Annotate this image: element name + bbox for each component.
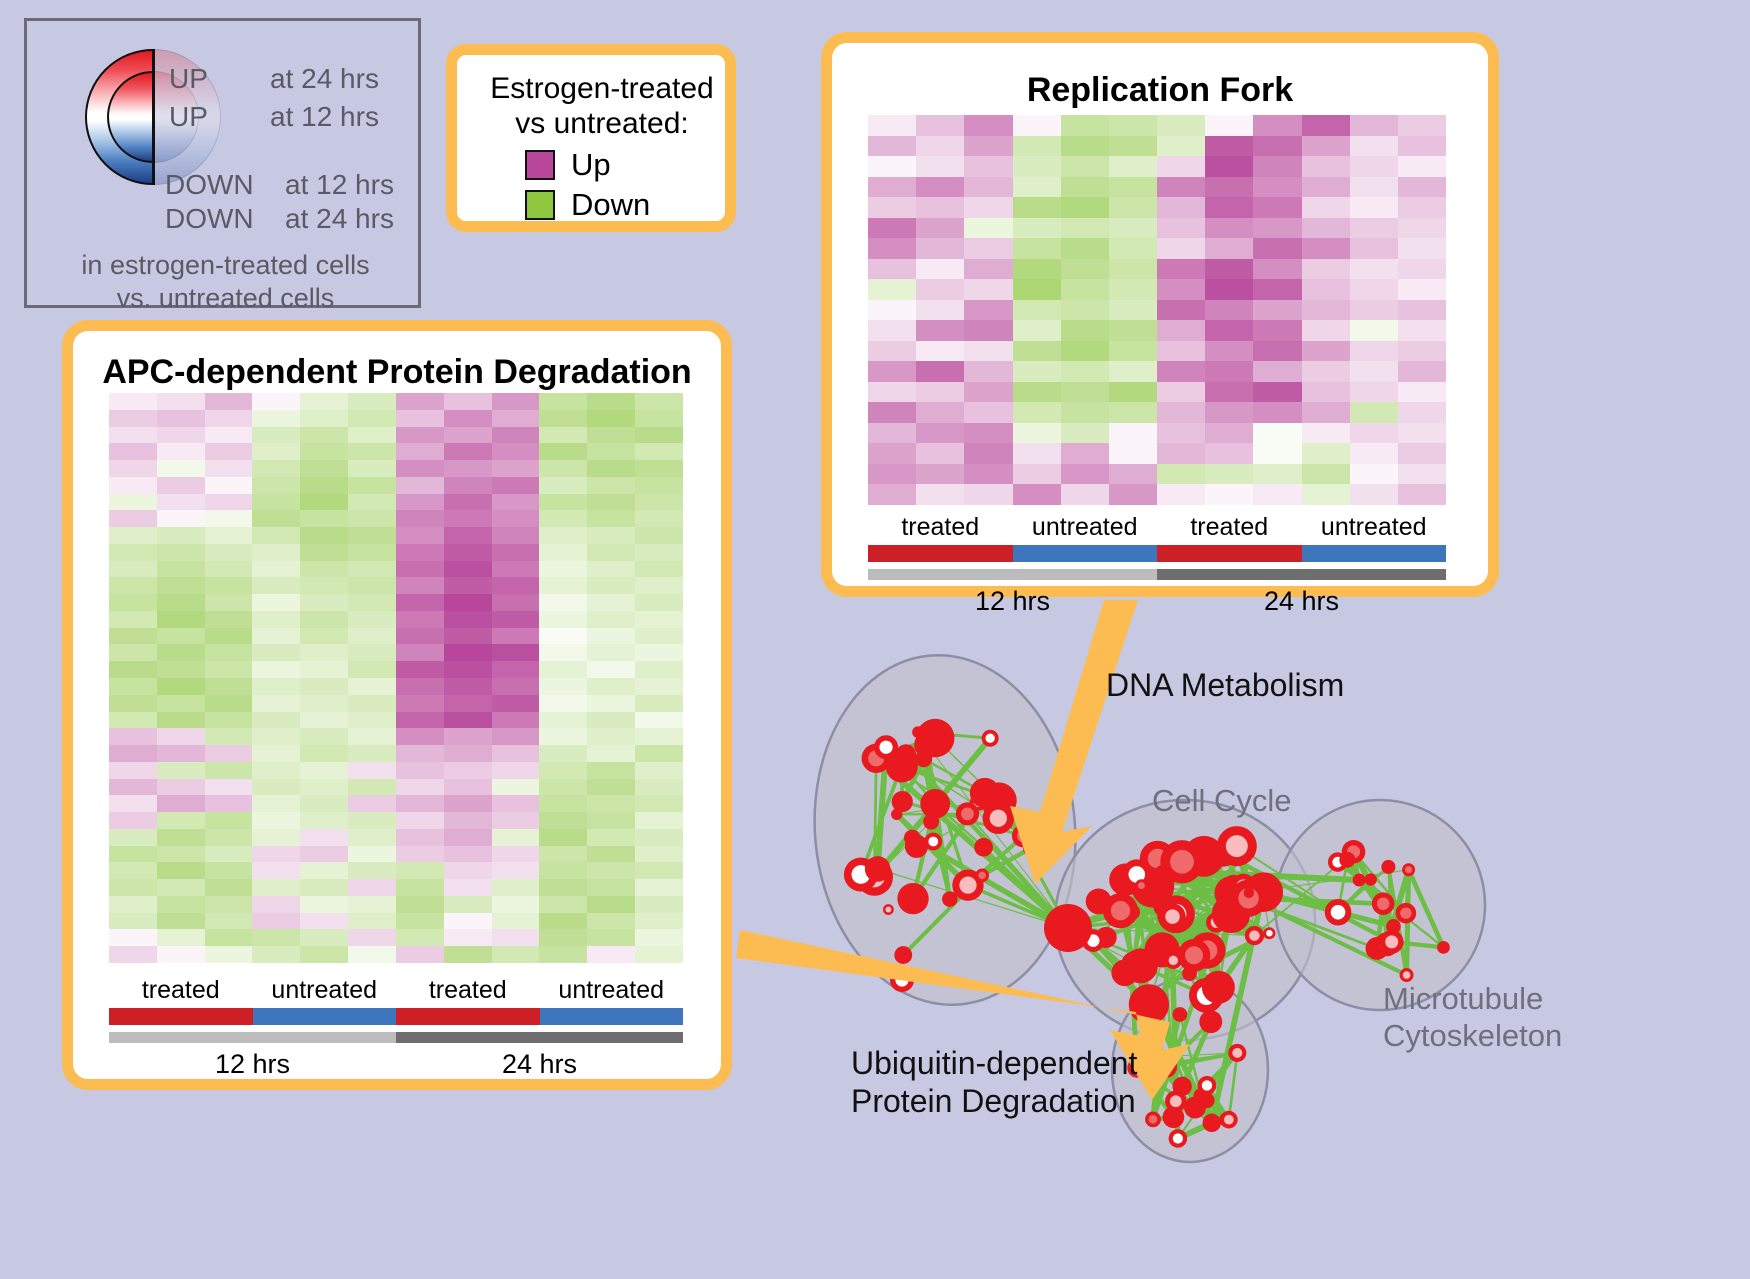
heatmap-cell [1253,136,1301,157]
heatmap-cell [1302,320,1350,341]
heatmap-cell [109,695,157,712]
cluster-label-ubiquitin-line1: Ubiquitin-dependent [851,1044,1137,1082]
network-node[interactable] [1263,927,1275,939]
replication-fork-heatmap [868,115,1446,505]
heatmap-cell [205,393,253,410]
heatmap-cell [157,611,205,628]
heatmap-cell [1205,443,1253,464]
network-node[interactable] [1402,863,1415,876]
heatmap-cell [1350,218,1398,239]
heatmap-cell [587,527,635,544]
heatmap-cell [1253,320,1301,341]
heatmap-cell [396,812,444,829]
heatmap-cell [252,829,300,846]
heatmap-cell [587,913,635,930]
network-node[interactable] [1173,1007,1188,1022]
network-node[interactable] [1353,873,1366,886]
heatmap-cell [964,402,1012,423]
node-inner-disc-12hrs [1232,1048,1242,1058]
heatmap-cell [492,594,540,611]
heatmap-cell [492,628,540,645]
heatmap-cell [964,177,1012,198]
heatmap-cell [1302,484,1350,505]
heatmap-cell [300,494,348,511]
node-inner-disc-12hrs [1400,907,1411,918]
heatmap-cell [444,427,492,444]
heatmap-cell [587,594,635,611]
network-node[interactable] [1119,961,1141,983]
network-node[interactable] [897,883,928,914]
heatmap-cell [1061,300,1109,321]
heatmap-cell [396,477,444,494]
heatmap-cell [635,477,683,494]
network-node[interactable] [1023,842,1036,855]
network-node[interactable] [905,835,928,858]
network-node[interactable] [1203,1114,1221,1132]
heatmap-cell [1398,156,1446,177]
heatmap-cell [157,695,205,712]
heatmap-cell [492,510,540,527]
heatmap-cell [635,728,683,745]
heatmap-cell [252,628,300,645]
heatmap-cell [205,745,253,762]
heatmap-cell [109,745,157,762]
node-outer-ring-24hrs [896,744,916,764]
heatmap-cell [1109,218,1157,239]
heatmap-cell [300,846,348,863]
heatmap-cell [444,460,492,477]
heatmap-cell [1061,218,1109,239]
node-outer-ring-24hrs [897,883,928,914]
network-node[interactable] [912,726,924,738]
heatmap-cell [492,879,540,896]
node-inner-disc-12hrs [1403,971,1411,979]
heatmap-cell [1013,423,1061,444]
network-node[interactable] [1129,984,1169,1024]
network-node[interactable] [1135,879,1148,892]
heatmap-cell [916,218,964,239]
sample-group-label: treated [396,976,540,1005]
heatmap-cell [444,862,492,879]
network-node[interactable] [1044,904,1092,952]
node-inner-disc-12hrs [1111,901,1130,920]
heatmap-cell [1350,136,1398,157]
heatmap-cell [300,544,348,561]
network-node[interactable] [916,719,954,757]
heatmap-cell [1157,259,1205,280]
heatmap-cell [1109,341,1157,362]
heatmap-cell [1350,484,1398,505]
heatmap-cell [300,879,348,896]
treatment-color-bar [109,1008,683,1025]
heatmap-cell [205,795,253,812]
heatmap-cell [300,527,348,544]
network-node[interactable] [1437,941,1450,954]
network-node[interactable] [974,838,993,857]
heatmap-cell [252,510,300,527]
network-node[interactable] [1202,971,1235,1004]
estrogen-legend-title-line1: Estrogen-treated [457,71,747,106]
heatmap-cell [1061,279,1109,300]
heatmap-cell [205,879,253,896]
heatmap-cell [205,644,253,661]
network-node[interactable] [894,946,912,964]
heatmap-cell [444,527,492,544]
heatmap-cell [300,661,348,678]
heatmap-cell [348,846,396,863]
network-node[interactable] [883,904,894,915]
heatmap-cell [1061,443,1109,464]
heatmap-cell [1205,382,1253,403]
legend-time-up-24: at 24 hrs [270,63,379,95]
heatmap-cell [1061,361,1109,382]
timepoint-bar-segment [1157,569,1446,580]
heatmap-cell [1109,136,1157,157]
cluster-label-ubiquitin: Ubiquitin-dependent Protein Degradation [851,1044,1137,1121]
network-node[interactable] [874,735,898,759]
heatmap-cell [252,779,300,796]
panel-apc-degradation: APC-dependent Protein Degradation treate… [62,320,732,1090]
heatmap-cell [252,661,300,678]
node-inner-disc-12hrs [1017,830,1030,843]
heatmap-cell [587,862,635,879]
node-inner-disc-12hrs [1026,845,1033,852]
heatmap-cell [916,484,964,505]
heatmap-cell [1205,136,1253,157]
network-node[interactable] [1396,903,1417,924]
node-outer-ring-24hrs [1199,1010,1222,1033]
heatmap-cell [444,561,492,578]
heatmap-cell [348,494,396,511]
heatmap-cell [157,427,205,444]
node-inner-disc-12hrs [1138,882,1145,889]
treatment-bar-segment [109,1008,253,1025]
heatmap-cell [587,577,635,594]
heatmap-cell [444,544,492,561]
treatment-bar-segment [253,1008,397,1025]
cluster-label-microtubule-line1: Microtubule [1383,980,1562,1017]
node-inner-disc-12hrs [1405,866,1412,873]
heatmap-cell [635,427,683,444]
heatmap-cell [157,712,205,729]
heatmap-cell [205,561,253,578]
heatmap-cell [300,762,348,779]
heatmap-cell [157,510,205,527]
heatmap-cell [157,846,205,863]
heatmap-cell [916,259,964,280]
heatmap-cell [492,829,540,846]
heatmap-cell [396,561,444,578]
node-inner-disc-12hrs [1169,956,1178,965]
network-node[interactable] [956,802,979,825]
network-node[interactable] [1165,952,1182,969]
network-node[interactable] [1103,893,1138,928]
node-inner-disc-12hrs [961,807,974,820]
heatmap-cell [1398,279,1446,300]
heatmap-cell [205,427,253,444]
heatmap-cell [1350,361,1398,382]
heatmap-cell [1061,382,1109,403]
heatmap-cell [348,561,396,578]
heatmap-cell [587,879,635,896]
node-outer-ring-24hrs [1353,873,1366,886]
heatmap-cell [539,745,587,762]
heatmap-cell [348,594,396,611]
heatmap-cell [539,561,587,578]
heatmap-cell [348,829,396,846]
heatmap-cell [252,494,300,511]
heatmap-cell [300,577,348,594]
network-node[interactable] [1220,1111,1238,1129]
heatmap-cell [300,678,348,695]
heatmap-cell [444,712,492,729]
heatmap-cell [1398,320,1446,341]
legend-time-down-12: at 12 hrs [285,169,394,201]
node-outer-ring-24hrs [920,789,950,819]
heatmap-cell [300,594,348,611]
heatmap-cell [635,510,683,527]
heatmap-cell [1061,197,1109,218]
heatmap-cell [587,779,635,796]
network-node[interactable] [1380,930,1404,954]
heatmap-cell [157,494,205,511]
heatmap-cell [1109,279,1157,300]
heatmap-cell [1253,300,1301,321]
heatmap-cell [587,695,635,712]
heatmap-cell [348,510,396,527]
heatmap-cell [635,494,683,511]
network-node[interactable] [1169,1129,1188,1148]
network-node[interactable] [1165,1091,1186,1112]
sample-group-labels: treateduntreatedtreateduntreated [109,976,683,1005]
heatmap-cell [492,443,540,460]
heatmap-cell [1109,402,1157,423]
heatmap-cell [587,661,635,678]
network-node[interactable] [865,856,891,882]
heatmap-cell [539,846,587,863]
legend-divider-line [152,49,155,185]
heatmap-cell [300,510,348,527]
heatmap-cell [1013,197,1061,218]
network-node[interactable] [896,744,916,764]
heatmap-cell [868,279,916,300]
apc-heatmap [109,393,683,963]
heatmap-cell [205,460,253,477]
network-node[interactable] [983,803,1014,834]
network-node[interactable] [982,730,999,747]
network-node[interactable] [1230,880,1267,917]
heatmap-cell [539,527,587,544]
heatmap-cell [300,779,348,796]
node-inner-disc-12hrs [1170,850,1194,874]
heatmap-cell [109,795,157,812]
network-node[interactable] [1178,939,1211,972]
heatmap-cell [1398,382,1446,403]
heatmap-cell [1205,341,1253,362]
heatmap-cell [157,561,205,578]
heatmap-cell [916,382,964,403]
heatmap-cell [396,762,444,779]
network-node[interactable] [1145,1111,1161,1127]
network-node[interactable] [920,789,950,819]
network-node[interactable] [1159,903,1185,929]
up-label: Up [571,147,611,183]
network-node[interactable] [1381,860,1395,874]
heatmap-cell [205,477,253,494]
heatmap-cell [1302,341,1350,362]
up-color-swatch [525,150,555,180]
heatmap-cell [1253,464,1301,485]
network-node[interactable] [891,809,902,820]
network-node[interactable] [1245,926,1264,945]
heatmap-cell [205,862,253,879]
heatmap-cell [964,300,1012,321]
network-node[interactable] [1199,1010,1222,1033]
heatmap-cell [1061,238,1109,259]
sample-group-label: untreated [1013,513,1158,542]
heatmap-cell [252,762,300,779]
heatmap-cell [1253,382,1301,403]
legend-state-up-24: UP [169,63,208,95]
node-outer-ring-24hrs [1044,904,1092,952]
heatmap-cell [964,156,1012,177]
heatmap-cell [1157,341,1205,362]
node-outer-ring-24hrs [916,719,954,757]
heatmap-cell [1398,115,1446,136]
network-node[interactable] [1199,1093,1214,1108]
heatmap-cell [157,779,205,796]
network-node[interactable] [1372,892,1395,915]
heatmap-cell [396,712,444,729]
network-node[interactable] [1160,840,1203,883]
heatmap-cell [1398,402,1446,423]
heatmap-cell [444,678,492,695]
network-node[interactable] [890,968,914,992]
heatmap-cell [1398,341,1446,362]
heatmap-cell [1013,156,1061,177]
heatmap-cell [1061,484,1109,505]
heatmap-cell [1350,156,1398,177]
heatmap-cell [157,913,205,930]
heatmap-cell [587,644,635,661]
heatmap-cell [109,561,157,578]
heatmap-cell [396,946,444,963]
heatmap-cell [1398,484,1446,505]
network-node[interactable] [1325,899,1352,926]
heatmap-cell [109,527,157,544]
node-inner-disc-12hrs [1249,930,1260,941]
heatmap-cell [868,443,916,464]
network-node[interactable] [924,833,942,851]
heatmap-cell [109,946,157,963]
heatmap-cell [587,846,635,863]
heatmap-cell [587,611,635,628]
heatmap-cell [300,393,348,410]
heatmap-cell [539,879,587,896]
figure-canvas: UP at 24 hrs UP at 12 hrs DOWN at 12 hrs… [0,0,1750,1279]
heatmap-cell [492,795,540,812]
heatmap-cell [396,460,444,477]
heatmap-cell [1253,115,1301,136]
heatmap-cell [539,728,587,745]
heatmap-cell [964,443,1012,464]
heatmap-cell [635,644,683,661]
heatmap-cell [916,443,964,464]
heatmap-cell [539,410,587,427]
sample-group-label: untreated [1302,513,1447,542]
heatmap-cell [1157,402,1205,423]
heatmap-cell [252,460,300,477]
heatmap-cell [868,341,916,362]
heatmap-cell [1205,484,1253,505]
network-node[interactable] [1198,1076,1217,1095]
heatmap-cell [157,678,205,695]
heatmap-cell [300,929,348,946]
heatmap-cell [1157,320,1205,341]
sample-group-label: untreated [253,976,397,1005]
heatmap-cell [539,762,587,779]
heatmap-cell [396,544,444,561]
heatmap-cell [492,712,540,729]
heatmap-cell [635,577,683,594]
heatmap-cell [396,896,444,913]
heatmap-cell [1109,361,1157,382]
heatmap-cell [587,929,635,946]
heatmap-cell [348,946,396,963]
heatmap-cell [635,695,683,712]
apc-title: APC-dependent Protein Degradation [73,353,721,392]
heatmap-cell [109,510,157,527]
heatmap-cell [396,577,444,594]
heatmap-cell [492,896,540,913]
heatmap-cell [1109,238,1157,259]
heatmap-cell [1398,218,1446,239]
heatmap-cell [109,661,157,678]
heatmap-cell [635,779,683,796]
heatmap-cell [635,929,683,946]
heatmap-cell [1013,136,1061,157]
network-node[interactable] [1155,1056,1177,1078]
heatmap-cell [1350,279,1398,300]
heatmap-cell [492,477,540,494]
heatmap-cell [635,745,683,762]
heatmap-cell [492,695,540,712]
heatmap-cell [635,795,683,812]
network-node[interactable] [1228,1044,1246,1062]
heatmap-cell [916,320,964,341]
heatmap-cell [539,678,587,695]
network-node[interactable] [975,869,989,883]
heatmap-cell [587,946,635,963]
heatmap-cell [492,544,540,561]
network-node[interactable] [1339,852,1355,868]
network-node[interactable] [1244,887,1254,897]
heatmap-cell [539,644,587,661]
heatmap-cell [109,879,157,896]
heatmap-cell [1205,423,1253,444]
heatmap-cell [1205,300,1253,321]
heatmap-cell [109,477,157,494]
heatmap-cell [252,913,300,930]
network-node[interactable] [1364,873,1376,885]
heatmap-cell [1350,443,1398,464]
heatmap-cell [635,712,683,729]
heatmap-cell [1157,238,1205,259]
heatmap-cell [1013,259,1061,280]
heatmap-cell [396,661,444,678]
heatmap-cell [492,862,540,879]
heatmap-cell [1109,382,1157,403]
